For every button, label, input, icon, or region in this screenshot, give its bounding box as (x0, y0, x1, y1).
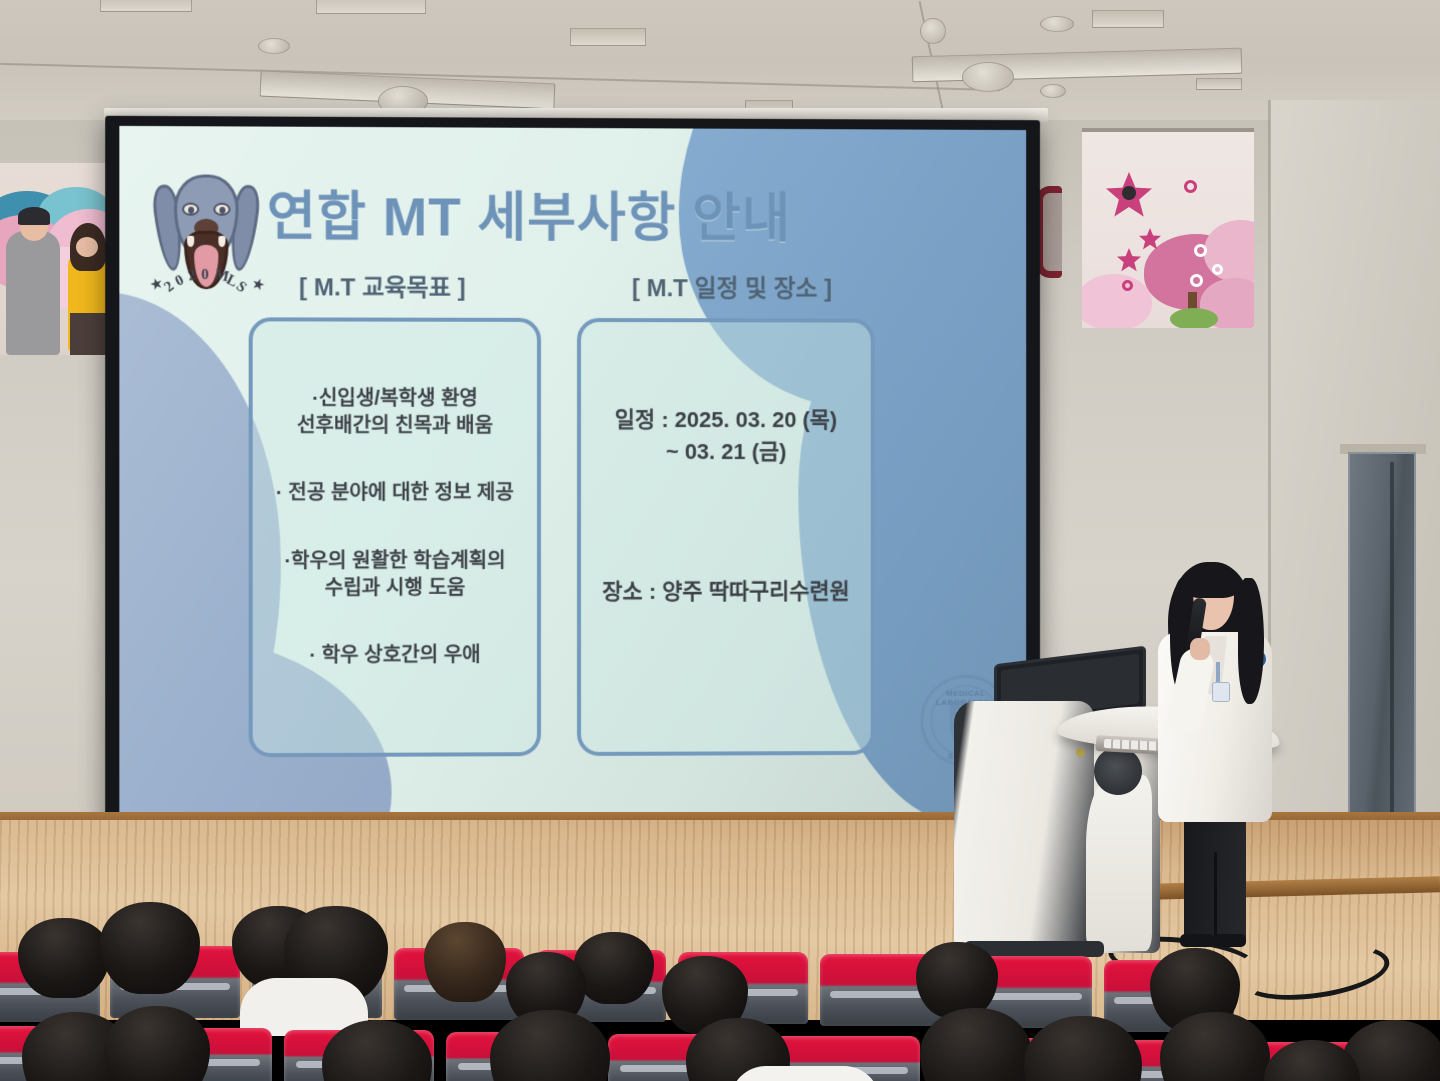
presentation-slide: ★ ★ 2020MLS 연합 MT 세부사항 안내 [ M.T 교육목표 ] [… (119, 126, 1026, 818)
schedule-panel: 일정 : 2025. 03. 20 (목) ~ 03. 21 (금) 장소 : … (577, 318, 875, 756)
audience-head (424, 922, 506, 1002)
wall-banner-blossom (1082, 132, 1254, 328)
goal-item: ·신입생/복학생 환영 선후배간의 친목과 배움 (297, 386, 493, 441)
ceiling-speaker (258, 38, 290, 54)
goal-item: ·학우의 원활한 학습계획의 수립과 시행 도움 (284, 548, 505, 603)
column-header-schedule: [ M.T 일정 및 장소 ] (632, 268, 832, 303)
wall-poster-students (0, 163, 118, 355)
exit-door[interactable] (1348, 452, 1416, 872)
goals-panel: ·신입생/복학생 환영 선후배간의 친목과 배움 · 전공 분야에 대한 정보 … (249, 317, 541, 757)
goal-item: · 전공 분야에 대한 정보 제공 (276, 480, 514, 507)
beagle-mascot-icon: ★ ★ 2020MLS (154, 168, 259, 319)
slide-title: 연합 MT 세부사항 안내 (267, 175, 791, 253)
lectern-speaker (1094, 747, 1142, 795)
ceiling-speaker (1040, 84, 1066, 98)
ceiling-speaker (920, 18, 946, 44)
ceiling-vent (1196, 78, 1242, 90)
id-badge (1212, 682, 1230, 702)
audience-seating (0, 890, 1440, 1081)
mascot-arc-text: 2020MLS (154, 285, 259, 319)
lectern-lock-icon (1076, 748, 1085, 757)
schedule-text: 일정 : 2025. 03. 20 (목) ~ 03. 21 (금) (581, 404, 871, 468)
column-header-goals: [ M.T 교육목표 ] (299, 267, 465, 303)
ceiling-speaker (962, 62, 1014, 92)
audience-shoulders (730, 1066, 880, 1081)
ceiling-vent (100, 0, 192, 12)
place-text: 장소 : 양주 딱따구리수련원 (581, 574, 871, 606)
audience-head (104, 1006, 210, 1081)
goal-item: · 학우 상호간의 우애 (309, 642, 480, 670)
projection-screen: ★ ★ 2020MLS 연합 MT 세부사항 안내 [ M.T 교육목표 ] [… (105, 116, 1040, 828)
audience-head (916, 942, 998, 1018)
auditorium-scene: ★ ★ 2020MLS 연합 MT 세부사항 안내 [ M.T 교육목표 ] [… (0, 0, 1440, 1081)
ceiling-vent (1092, 10, 1164, 28)
ceiling-speaker (1040, 16, 1074, 32)
audience-head (18, 918, 110, 998)
audience-head (100, 902, 200, 994)
audience-head (574, 932, 654, 1004)
ceiling-vent (570, 28, 646, 46)
ceiling-vent (316, 0, 426, 14)
